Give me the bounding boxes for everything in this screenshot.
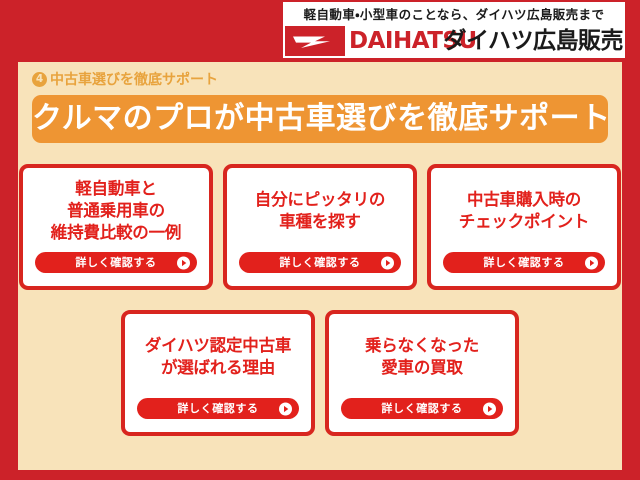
play-circle-icon xyxy=(279,402,292,415)
card-cta-label: 詳しく確認する xyxy=(483,252,564,273)
brand-lockup: DAIHATSU ダイハツ広島販売 xyxy=(283,26,625,56)
card-title-line: 車種を探す xyxy=(279,211,361,233)
daihatsu-d-mark-icon xyxy=(285,26,345,56)
card-certified-used-car-reasons[interactable]: ダイハツ認定中古車 が選ばれる理由 詳しく確認する xyxy=(121,310,315,436)
play-circle-icon xyxy=(177,256,190,269)
card-purchase-checkpoints[interactable]: 中古車購入時の チェックポイント 詳しく確認する xyxy=(427,164,621,290)
card-title: 中古車購入時の チェックポイント xyxy=(431,176,617,246)
card-title: 自分にピッタリの 車種を探す xyxy=(227,176,413,246)
header-tagline: 軽自動車・小型車のことなら、ダイハツ広島販売まで xyxy=(283,5,625,25)
play-circle-icon xyxy=(483,402,496,415)
card-row-top: 軽自動車と 普通乗用車の 維持費比較の一例 詳しく確認する 自分にピッタリの xyxy=(18,164,622,290)
card-title-line: チェックポイント xyxy=(459,211,589,233)
page-root: 軽自動車・小型車のことなら、ダイハツ広島販売まで DAIHATSU ダイハツ広島… xyxy=(0,0,640,480)
section-headline-banner: クルマのプロが中古車選びを徹底サポート xyxy=(32,95,608,143)
play-circle-icon xyxy=(585,256,598,269)
card-title-line: 自分にピッタリの xyxy=(255,189,385,211)
card-cta-button[interactable]: 詳しく確認する xyxy=(137,398,299,419)
dealer-logo-panel: 軽自動車・小型車のことなら、ダイハツ広島販売まで DAIHATSU ダイハツ広島… xyxy=(283,2,625,58)
site-header: 軽自動車・小型車のことなら、ダイハツ広島販売まで DAIHATSU ダイハツ広島… xyxy=(0,0,640,60)
card-title-line: 乗らなくなった xyxy=(365,335,479,357)
card-cta-label: 詳しく確認する xyxy=(177,398,258,419)
card-title-line: 普通乗用車の xyxy=(67,200,165,222)
card-find-your-model[interactable]: 自分にピッタリの 車種を探す 詳しく確認する xyxy=(223,164,417,290)
card-title-line: ダイハツ認定中古車 xyxy=(145,335,291,357)
card-cta-label: 詳しく確認する xyxy=(381,398,462,419)
card-cta-label: 詳しく確認する xyxy=(75,252,156,273)
card-maintenance-cost-comparison[interactable]: 軽自動車と 普通乗用車の 維持費比較の一例 詳しく確認する xyxy=(19,164,213,290)
card-cta-button[interactable]: 詳しく確認する xyxy=(35,252,197,273)
card-title-line: 中古車購入時の xyxy=(467,189,581,211)
card-cta-button[interactable]: 詳しく確認する xyxy=(443,252,605,273)
card-title: ダイハツ認定中古車 が選ばれる理由 xyxy=(125,322,311,392)
card-title-line: が選ばれる理由 xyxy=(161,357,275,379)
play-circle-icon xyxy=(381,256,394,269)
card-car-buyback[interactable]: 乗らなくなった 愛車の買取 詳しく確認する xyxy=(325,310,519,436)
card-cta-button[interactable]: 詳しく確認する xyxy=(239,252,401,273)
content-panel: 4 中古車選びを徹底サポート クルマのプロが中古車選びを徹底サポート 軽自動車と… xyxy=(18,62,622,470)
card-cta-button[interactable]: 詳しく確認する xyxy=(341,398,503,419)
card-title: 軽自動車と 普通乗用車の 維持費比較の一例 xyxy=(23,176,209,246)
section-eyebrow: 4 中古車選びを徹底サポート xyxy=(32,69,218,89)
card-cta-label: 詳しく確認する xyxy=(279,252,360,273)
card-row-bottom: ダイハツ認定中古車 が選ばれる理由 詳しく確認する 乗らなくなった 愛車の買取 xyxy=(18,310,622,436)
card-title-line: 維持費比較の一例 xyxy=(51,222,181,244)
section-number-badge: 4 xyxy=(32,72,47,87)
card-title-line: 軽自動車と xyxy=(75,178,157,200)
card-title: 乗らなくなった 愛車の買取 xyxy=(329,322,515,392)
card-title-line: 愛車の買取 xyxy=(381,357,463,379)
section-eyebrow-label: 中古車選びを徹底サポート xyxy=(50,69,218,89)
brand-name-japanese: ダイハツ広島販売 xyxy=(443,26,623,56)
